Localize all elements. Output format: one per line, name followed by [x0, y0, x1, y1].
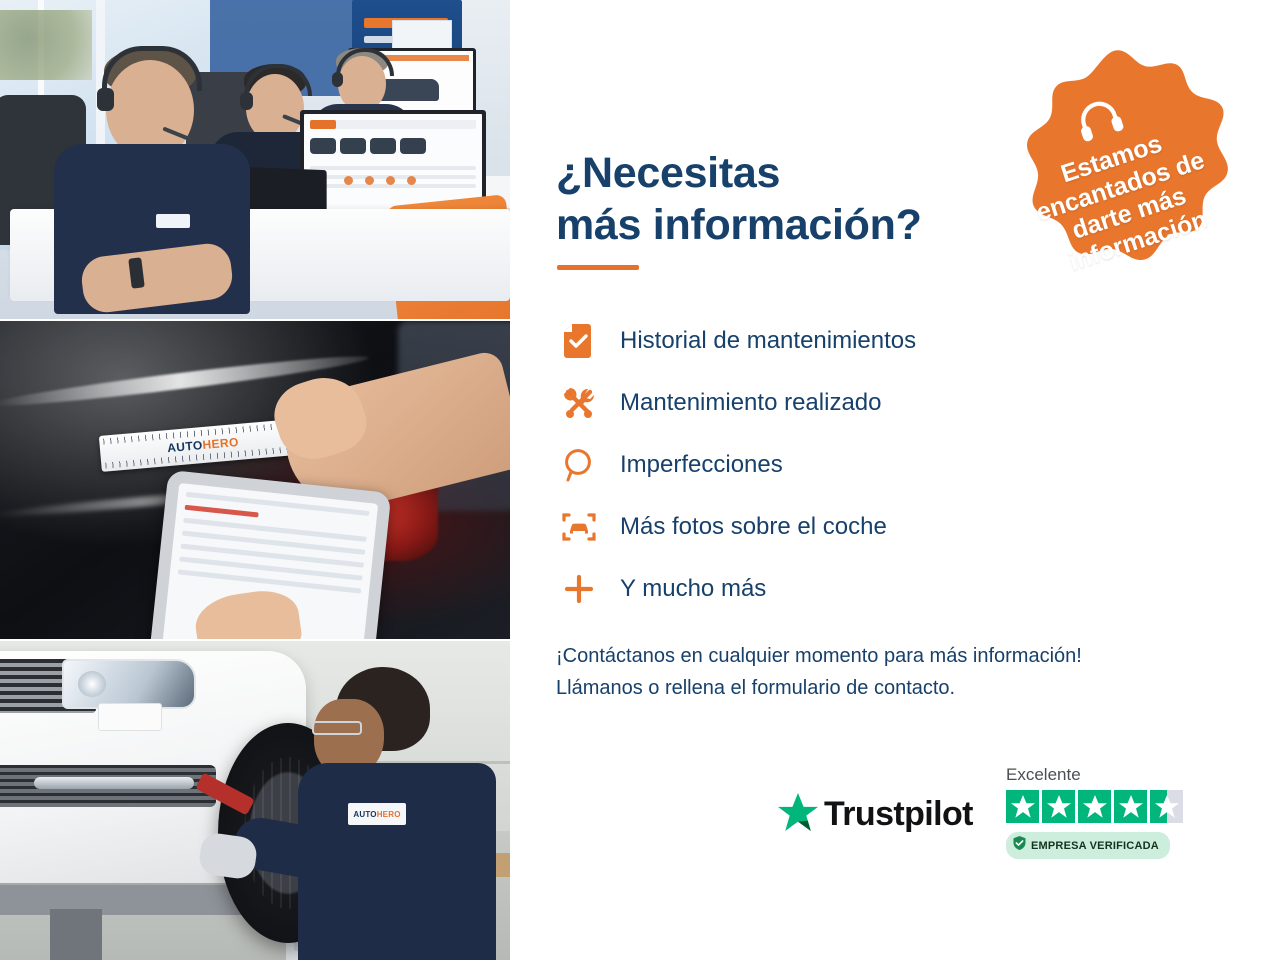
verified-label: EMPRESA VERIFICADA — [1031, 840, 1159, 852]
ruler-brand-auto: AUTO — [167, 438, 203, 455]
trustpilot-rating: Excelente — [1006, 765, 1196, 859]
contact-text: ¡Contáctanos en cualquier momento para m… — [556, 640, 1236, 705]
feature-label: Imperfecciones — [602, 451, 783, 479]
feature-label: Y mucho más — [602, 575, 766, 603]
feature-label: Mantenimiento realizado — [602, 389, 881, 417]
ruler-brand-hero: HERO — [202, 435, 239, 452]
contact-line-2: Llámanos o rellena el formulario de cont… — [556, 672, 1236, 704]
feature-item-mucho-mas: Y mucho más — [556, 558, 1076, 620]
feature-label: Más fotos sobre el coche — [602, 513, 887, 541]
technician: AUTOHERO — [296, 667, 496, 960]
photo-car-inspection: AUTOHERO — [0, 321, 510, 640]
magnifier-icon — [556, 448, 602, 482]
content-panel: ¿Necesitas más información? Estamos enca… — [510, 0, 1280, 960]
rating-label: Excelente — [1006, 765, 1196, 785]
feature-item-historial: Historial de mantenimientos — [556, 310, 1076, 372]
badge-text: Estamos encantados de darte más informac… — [1012, 115, 1237, 285]
photo-workshop-technician: AUTOHERO — [0, 641, 510, 960]
trustpilot-logo[interactable]: Trustpilot — [778, 793, 973, 836]
photo-column: AUTOHERO — [0, 0, 510, 960]
feature-list: Historial de mantenimientos M — [556, 310, 1076, 620]
agent-main — [44, 36, 274, 306]
headline-line-1: ¿Necesitas — [556, 149, 780, 197]
document-check-icon — [556, 324, 602, 358]
feature-item-imperfecciones: Imperfecciones — [556, 434, 1076, 496]
feature-item-mantenimiento: Mantenimiento realizado — [556, 372, 1076, 434]
car-headlight — [62, 659, 196, 709]
feature-label: Historial de mantenimientos — [602, 327, 916, 355]
verified-badge: EMPRESA VERIFICADA — [1006, 832, 1170, 859]
feature-item-fotos: Más fotos sobre el coche — [556, 496, 1076, 558]
promo-page: AUTOHERO — [0, 0, 1280, 960]
star-2 — [1042, 790, 1075, 823]
polo-brand-auto: AUTO — [353, 810, 376, 819]
trustpilot-name: Trustpilot — [824, 795, 973, 834]
car-lift-post — [50, 909, 102, 960]
info-badge: Estamos encantados de darte más informac… — [985, 45, 1250, 310]
polo-brand-hero: HERO — [377, 810, 401, 819]
trustpilot-star-icon — [778, 793, 818, 836]
license-plate — [98, 703, 162, 731]
headline-line-2: más información? — [556, 201, 922, 249]
photo-call-center-agents — [0, 0, 510, 319]
star-3 — [1078, 790, 1111, 823]
title-underline-accent — [557, 265, 639, 270]
trustpilot-widget[interactable]: Trustpilot Excelente — [778, 765, 1198, 885]
star-1 — [1006, 790, 1039, 823]
tools-icon — [556, 386, 602, 420]
page-title: ¿Necesitas más información? — [556, 147, 986, 252]
star-rating — [1006, 790, 1196, 823]
chrome-trim — [34, 777, 194, 789]
contact-line-1: ¡Contáctanos en cualquier momento para m… — [556, 640, 1236, 672]
shield-check-icon — [1013, 836, 1026, 855]
star-5-half — [1150, 790, 1183, 823]
star-4 — [1114, 790, 1147, 823]
plus-icon — [556, 573, 602, 605]
car-scan-icon — [556, 511, 602, 543]
